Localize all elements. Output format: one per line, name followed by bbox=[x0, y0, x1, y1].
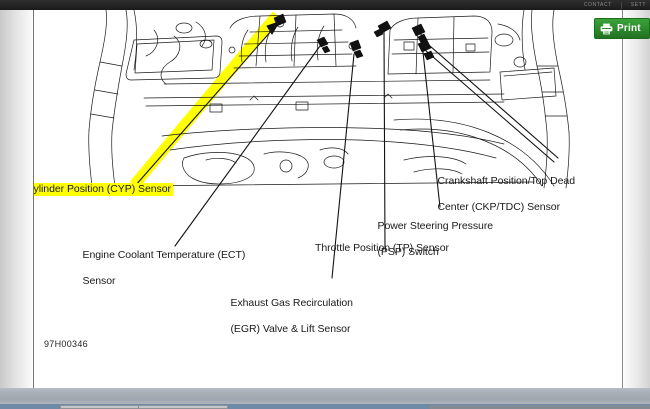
callout-ckp-line-1: Crankshaft Position/Top Dead bbox=[437, 175, 575, 187]
os-taskbar[interactable] bbox=[0, 388, 650, 409]
callout-crankshaft-position-tdc-sensor: Crankshaft Position/Top Dead Center (CKP… bbox=[426, 162, 575, 227]
callout-egr-line-2: (EGR) Valve & Lift Sensor bbox=[230, 323, 350, 335]
callout-ckp-line-2: Center (CKP/TDC) Sensor bbox=[437, 201, 560, 213]
taskbar-tray[interactable] bbox=[430, 405, 650, 409]
print-button-label: Print bbox=[617, 24, 641, 34]
figure-number: 97H00346 bbox=[44, 339, 88, 349]
page-gutter-right bbox=[623, 10, 650, 388]
taskbar-window-button-2[interactable] bbox=[138, 405, 228, 409]
callout-ect-line-2: Sensor bbox=[82, 275, 115, 287]
callout-psp-line-2: (PSP) Switch bbox=[377, 246, 438, 258]
nav-separator bbox=[621, 2, 622, 9]
site-header-nav: CONTACT SETT bbox=[584, 0, 646, 10]
printer-icon bbox=[600, 23, 613, 35]
nav-link-contact[interactable]: CONTACT bbox=[584, 0, 612, 10]
callout-cylinder-position-sensor: Cylinder Position (CYP) Sensor bbox=[33, 183, 173, 196]
document-page: Cylinder Position (CYP) Sensor Engine Co… bbox=[33, 10, 623, 388]
print-button[interactable]: Print bbox=[594, 18, 650, 39]
page-gutter-left bbox=[0, 10, 33, 388]
taskbar-window-button-1[interactable] bbox=[60, 405, 150, 409]
nav-link-settings[interactable]: SETT bbox=[631, 0, 646, 10]
callout-ect-line-1: Engine Coolant Temperature (ECT) bbox=[82, 249, 245, 261]
callout-egr-line-1: Exhaust Gas Recirculation bbox=[230, 297, 352, 309]
callout-egr-valve-lift-sensor: Exhaust Gas Recirculation (EGR) Valve & … bbox=[219, 284, 353, 349]
site-header-bar: CONTACT SETT bbox=[0, 0, 650, 10]
